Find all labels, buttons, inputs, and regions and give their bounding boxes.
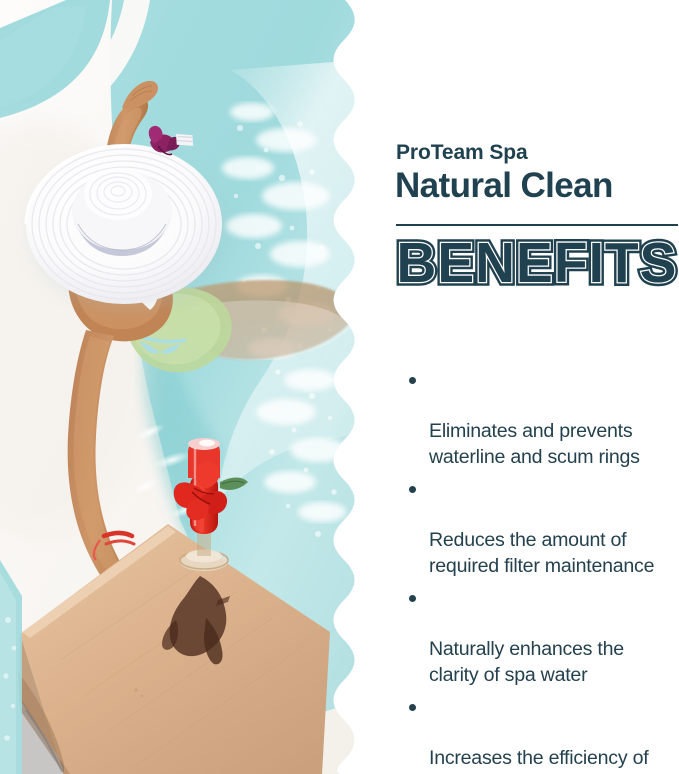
bullet-dot bbox=[409, 486, 416, 493]
pool-scene-illustration bbox=[0, 0, 360, 774]
bullet-dot bbox=[409, 595, 416, 602]
benefit-text: Reduces the amount of required filter ma… bbox=[429, 529, 654, 577]
bullet-dot bbox=[409, 377, 416, 384]
benefit-item: Increases the efficiency of other water … bbox=[408, 695, 679, 774]
product-lifestyle-photo bbox=[0, 0, 360, 774]
header-divider bbox=[396, 224, 678, 226]
benefit-item: Reduces the amount of required filter ma… bbox=[408, 477, 679, 579]
promo-graphic: ProTeam Spa Natural Clean BENEFITS BENEF… bbox=[0, 0, 679, 774]
benefit-item: Naturally enhances the clarity of spa wa… bbox=[408, 586, 679, 688]
product-name: Natural Clean bbox=[395, 168, 613, 203]
benefits-text-panel: ProTeam Spa Natural Clean BENEFITS BENEF… bbox=[396, 0, 679, 774]
benefit-text: Eliminates and prevents waterline and sc… bbox=[429, 420, 640, 468]
brand-name: ProTeam Spa bbox=[396, 142, 528, 163]
benefits-heading: BENEFITS BENEFITS BENEFITS bbox=[396, 232, 679, 290]
benefits-heading-art: BENEFITS BENEFITS BENEFITS bbox=[396, 232, 679, 290]
svg-text:BENEFITS: BENEFITS bbox=[397, 232, 678, 290]
bullet-dot bbox=[409, 704, 416, 711]
benefits-list: Eliminates and prevents waterline and sc… bbox=[408, 368, 679, 774]
benefit-text: Naturally enhances the clarity of spa wa… bbox=[429, 638, 624, 686]
benefit-text: Increases the efficiency of other water … bbox=[429, 747, 666, 774]
benefit-item: Eliminates and prevents waterline and sc… bbox=[408, 368, 679, 470]
